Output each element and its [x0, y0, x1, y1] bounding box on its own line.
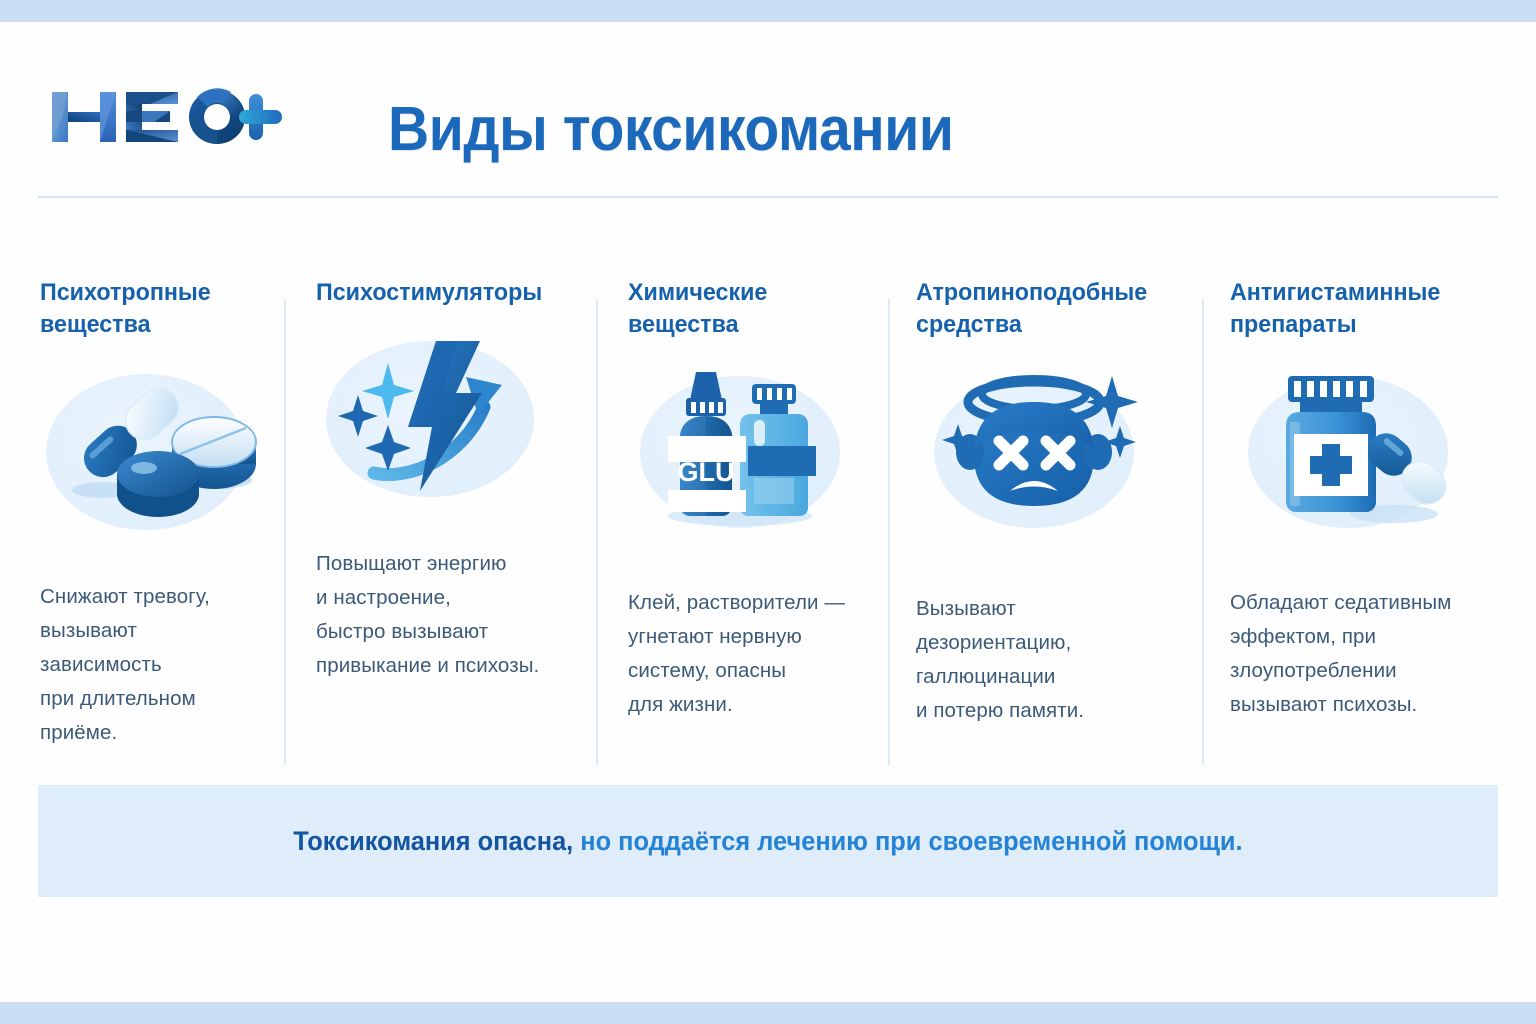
category-title: Психостимуляторы	[316, 277, 561, 309]
column-divider	[284, 299, 286, 765]
neo-plus-logo	[46, 84, 282, 150]
category-column-atropine: Атропиноподобные средства	[888, 277, 1202, 767]
header: Виды токсикомании	[0, 52, 1536, 182]
callout-text: Токсикомания опасна, но поддаётся лечени…	[293, 826, 1242, 857]
column-divider	[1202, 299, 1204, 765]
column-divider	[596, 299, 598, 765]
column-divider	[888, 299, 890, 765]
pills-capsule-tablets-icon	[40, 364, 262, 544]
category-description: Снижают тревогу, вызывают зависимость пр…	[40, 580, 262, 750]
page-title: Виды токсикомании	[388, 94, 953, 165]
category-column-chemicals: Химические вещества	[596, 277, 888, 767]
category-description: Обладают седативным эффектом, при злоупо…	[1230, 586, 1514, 722]
bottom-accent-band	[0, 1002, 1536, 1024]
category-title: Психотропные вещества	[40, 277, 251, 342]
medicine-bottle-capsule-icon	[1230, 364, 1514, 544]
infographic-page: Виды токсикомании Психотропные вещества	[0, 22, 1536, 1002]
dizzy-face-icon	[916, 364, 1180, 544]
category-title: Химические вещества	[628, 277, 854, 342]
top-accent-band	[0, 0, 1536, 22]
category-title: Антигистаминные препараты	[1230, 277, 1500, 342]
glue-solvent-bottles-icon: GLU	[628, 364, 866, 544]
category-columns: Психотропные вещества	[0, 277, 1536, 767]
category-column-antihistamines: Антигистаминные препараты	[1202, 277, 1536, 767]
header-divider	[38, 196, 1498, 198]
category-title: Атропиноподобные средства	[916, 277, 1167, 342]
callout-banner: Токсикомания опасна, но поддаётся лечени…	[38, 785, 1498, 897]
category-column-stimulants: Психостимуляторы	[284, 277, 596, 767]
callout-rest-text: но поддаётся лечению при своевременной п…	[573, 826, 1242, 856]
category-description: Клей, растворители — угнетают нервную си…	[628, 586, 866, 722]
category-description: Повыщают энергию и настроение, быстро вы…	[316, 547, 574, 683]
callout-strong-text: Токсикомания опасна,	[293, 826, 573, 856]
category-description: Вызывают дезориентацию, галлюцинации и п…	[916, 592, 1180, 728]
lightning-bolt-arrow-sparkles-icon	[316, 331, 574, 511]
category-column-psychotropic: Психотропные вещества	[0, 277, 284, 767]
